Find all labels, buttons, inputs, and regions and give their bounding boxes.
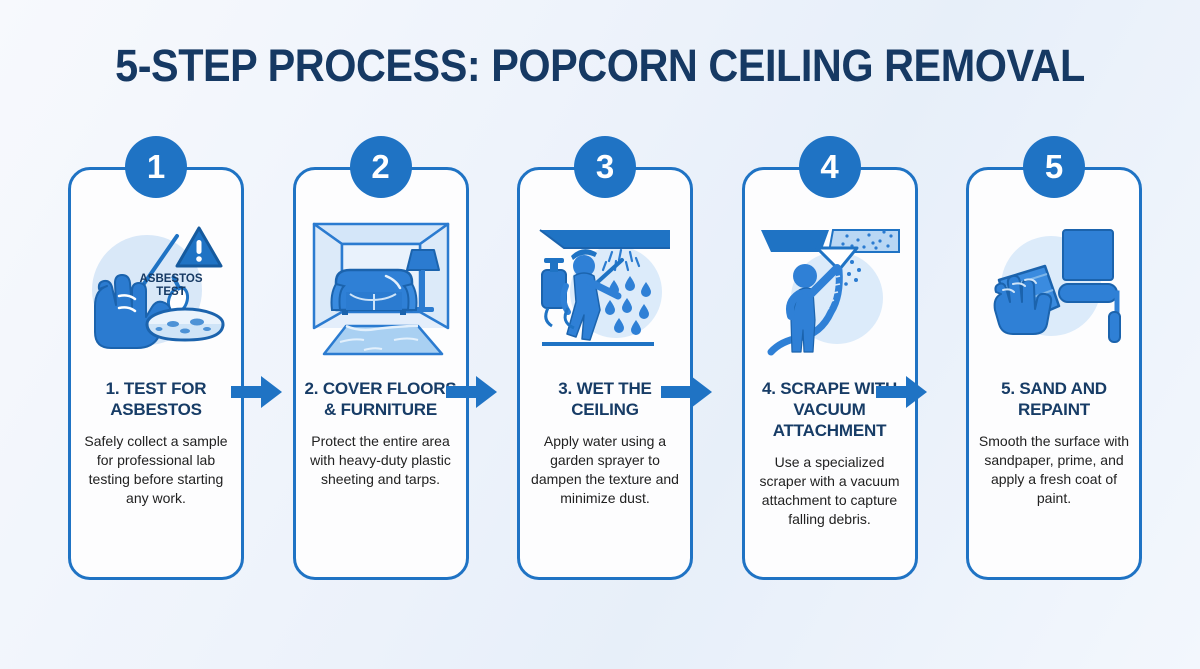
arrow-step-3-to-4 [661,375,713,409]
worker-garden-sprayer-water-droplets-icon [530,214,680,364]
infographic-canvas: 5-STEP PROCESS: POPCORN CEILING REMOVAL … [0,0,1200,669]
step-body-1: Safely collect a sample for professional… [79,432,233,508]
arrow-step-1-to-2 [231,375,283,409]
step-card-3[interactable]: 3 [517,167,693,580]
step-card-5[interactable]: 5 [966,167,1142,580]
step-number-badge-5: 5 [1023,136,1085,198]
step-title-1: 1. TEST FOR ASBESTOS [76,378,236,420]
step-number-badge-2: 2 [350,136,412,198]
step-body-5: Smooth the surface with sandpaper, prime… [977,432,1131,508]
covered-sofa-lamp-tarp-icon [306,214,456,364]
step-title-2: 2. COVER FLOORS & FURNITURE [301,378,461,420]
step-card-4[interactable]: 4 [742,167,918,580]
step-title-5: 5. SAND AND REPAINT [974,378,1134,420]
step-body-2: Protect the entire area with heavy-duty … [304,432,458,489]
step-card-2[interactable]: 2 [293,167,469,580]
arrow-step-2-to-3 [446,375,498,409]
asbestos-badge-line1: ASBESTOS [139,273,202,285]
page-title: 5-STEP PROCESS: POPCORN CEILING REMOVAL [48,40,1152,92]
worker-scraper-vacuum-hose-icon [755,214,905,364]
sanding-hand-paint-roller-icon [979,214,1129,364]
asbestos-test-swab-petri-dish-icon: ASBESTOS TEST [81,214,231,364]
step-body-3: Apply water using a garden sprayer to da… [528,432,682,508]
step-card-1[interactable]: 1 [68,167,244,580]
asbestos-badge-line2: TEST [156,286,185,298]
arrow-step-4-to-5 [876,375,928,409]
step-body-4: Use a specialized scraper with a vacuum … [753,453,907,529]
steps-container: 1 [68,167,1142,580]
step-number-badge-1: 1 [125,136,187,198]
step-number-badge-3: 3 [574,136,636,198]
step-number-badge-4: 4 [799,136,861,198]
